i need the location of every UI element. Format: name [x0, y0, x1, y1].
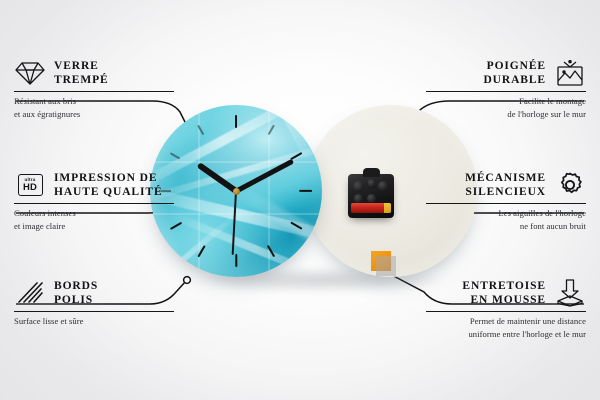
- mechanism-dial-a: [353, 181, 364, 192]
- ultra-hd-badge: ultra HD: [18, 174, 43, 196]
- feature-title-line1: IMPRESSION DE: [54, 171, 163, 185]
- feature-mecanisme-silencieux: MÉCANISME SILENCIEUX Les aiguilles de l'…: [426, 170, 586, 232]
- feature-subtitle: Les aiguilles de l'horloge ne font aucun…: [426, 207, 586, 231]
- feature-head: ultra HD IMPRESSION DE HAUTE QUALITÉ: [14, 170, 174, 200]
- clock-minute-hand: [235, 159, 294, 193]
- feature-rule: [14, 91, 174, 92]
- feature-rule: [14, 203, 174, 204]
- diamond-icon: [14, 58, 46, 88]
- feature-subtitle-line1: Les aiguilles de l'horloge: [426, 207, 586, 219]
- wall-frame-hanger-icon: [554, 58, 586, 88]
- feature-head: BORDS POLIS: [14, 278, 174, 308]
- feature-title-line2: SILENCIEUX: [465, 185, 546, 199]
- feature-title: BORDS POLIS: [54, 279, 98, 307]
- feature-subtitle-line2: et image claire: [14, 220, 174, 232]
- glass-grid-v2: [268, 105, 270, 277]
- feature-subtitle-line2: et aux égratignures: [14, 108, 174, 120]
- feature-title: ENTRETOISE EN MOUSSE: [462, 279, 546, 307]
- feature-head: VERRE TREMPÉ: [14, 58, 174, 88]
- feature-subtitle-line1: Couleurs intenses: [14, 207, 174, 219]
- clock-hour-hand: [197, 162, 238, 193]
- feature-title-line1: POIGNÉE: [483, 59, 546, 73]
- feature-title-line2: HAUTE QUALITÉ: [54, 185, 163, 199]
- clock-tick-4: [235, 190, 302, 230]
- feature-title-line2: TREMPÉ: [54, 73, 109, 87]
- feature-subtitle-line1: Facilite le montage: [426, 95, 586, 107]
- feature-title-line2: EN MOUSSE: [462, 293, 546, 307]
- feature-head: POIGNÉE DURABLE: [426, 58, 586, 88]
- feature-bords-polis: BORDS POLIS Surface lisse et sûre: [14, 278, 174, 328]
- feature-subtitle: Permet de maintenir une distance uniform…: [426, 315, 586, 339]
- feature-verre-trempe: VERRE TREMPÉ Résistant aux bris et aux é…: [14, 58, 174, 120]
- feature-rule: [426, 203, 586, 204]
- mechanism-dial-c: [378, 181, 388, 191]
- mechanism-dial-e: [367, 194, 376, 203]
- quartz-mechanism: [348, 174, 394, 218]
- down-arrow-stack-icon: [554, 278, 586, 308]
- feature-title-line1: MÉCANISME: [465, 171, 546, 185]
- feature-subtitle-line2: ne font aucun bruit: [426, 220, 586, 232]
- feature-head: MÉCANISME SILENCIEUX: [426, 170, 586, 200]
- feature-subtitle-line1: Résistant aux bris: [14, 95, 174, 107]
- feature-entretoise-en-mousse: ENTRETOISE EN MOUSSE Permet de maintenir…: [426, 278, 586, 340]
- feature-subtitle-line1: Permet de maintenir une distance: [426, 315, 586, 327]
- feature-title-line2: POLIS: [54, 293, 98, 307]
- feature-subtitle: Facilite le montage de l'horloge sur le …: [426, 95, 586, 119]
- glass-grid-h1: [150, 161, 322, 163]
- aa-battery: [351, 203, 391, 213]
- feature-subtitle-line1: Surface lisse et sûre: [14, 315, 174, 327]
- mechanism-dial-b: [368, 179, 375, 188]
- clock-tick-3: [236, 190, 312, 192]
- feature-title-line1: VERRE: [54, 59, 109, 73]
- mechanism-dial-d: [354, 194, 363, 203]
- clock-front-face: [150, 105, 322, 277]
- clock-second-hand: [232, 191, 237, 255]
- foam-spacer: [371, 251, 391, 271]
- clock-tick-5: [235, 190, 275, 257]
- feature-title-line1: BORDS: [54, 279, 98, 293]
- feature-title: POIGNÉE DURABLE: [483, 59, 546, 87]
- feature-title: MÉCANISME SILENCIEUX: [465, 171, 546, 199]
- ultra-hd-icon: ultra HD: [14, 170, 46, 200]
- infographic-canvas: VERRE TREMPÉ Résistant aux bris et aux é…: [0, 0, 600, 400]
- feature-rule: [14, 311, 174, 312]
- feature-title: IMPRESSION DE HAUTE QUALITÉ: [54, 171, 163, 199]
- feature-subtitle: Résistant aux bris et aux égratignures: [14, 95, 174, 119]
- ultra-hd-big-label: HD: [23, 183, 37, 193]
- feature-impression-haute-qualite: ultra HD IMPRESSION DE HAUTE QUALITÉ Cou…: [14, 170, 174, 232]
- feature-rule: [426, 91, 586, 92]
- gear-icon: [554, 170, 586, 200]
- feature-poignee-durable: POIGNÉE DURABLE Facilite le montage de l…: [426, 58, 586, 120]
- feature-subtitle-line2: uniforme entre l'horloge et le mur: [426, 328, 586, 340]
- glass-grid-v1: [198, 105, 200, 277]
- clock-hand-cap: [233, 188, 240, 195]
- feature-rule: [426, 311, 586, 312]
- feature-head: ENTRETOISE EN MOUSSE: [426, 278, 586, 308]
- clock-tick-12: [235, 115, 237, 191]
- feature-subtitle: Couleurs intenses et image claire: [14, 207, 174, 231]
- feature-title-line2: DURABLE: [483, 73, 546, 87]
- glass-grid-h2: [150, 213, 322, 215]
- polished-edges-icon: [14, 278, 46, 308]
- mechanism-hanger-tab: [363, 168, 380, 177]
- feature-subtitle: Surface lisse et sûre: [14, 315, 174, 327]
- clock-tick-8: [170, 190, 237, 230]
- feature-subtitle-line2: de l'horloge sur le mur: [426, 108, 586, 120]
- feature-title-line1: ENTRETOISE: [462, 279, 546, 293]
- feature-title: VERRE TREMPÉ: [54, 59, 109, 87]
